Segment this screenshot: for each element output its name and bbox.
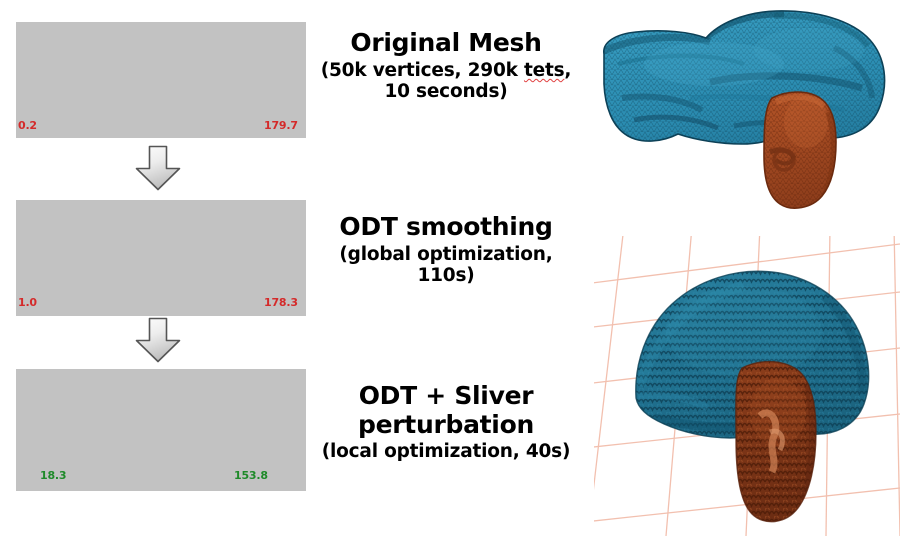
arrow-odt-to-sliver [132,316,184,364]
caption-title-original: Original Mesh [312,28,580,57]
caption-odt-smoothing: ODT smoothing (global optimization, 110s… [312,212,580,287]
caption-line3-sliver: (local optimization, 40s) [300,441,592,462]
liver-surface-original [594,2,900,234]
caption-odt-sliver: ODT + Sliver perturbation (local optimiz… [300,381,592,462]
caption-line3-original: 10 seconds) [312,81,580,102]
arrow-original-to-odt [132,144,184,192]
histogram-panel-original [16,22,306,138]
caption-line3-odt: 110s) [312,265,580,286]
caption-line2-part-c: , [564,60,571,81]
caption-title-odt: ODT smoothing [312,212,580,241]
histogram-axis-max-label-odt: 178.3 [264,296,298,309]
caption-title-sliver-line1: ODT + Sliver [300,381,592,410]
histogram-axis-min-label-odt-sliver: 18.3 [40,469,66,482]
histogram-axis-max-label-odt-sliver: 153.8 [234,469,268,482]
caption-original-mesh: Original Mesh (50k vertices, 290k tets, … [312,28,580,103]
histogram-axis-min-label-odt: 1.0 [18,296,37,309]
caption-line2-original: (50k vertices, 290k tets, [312,60,580,81]
caption-line2-odt: (global optimization, [312,244,580,265]
histogram-plot-odt [16,200,306,316]
histogram-axis-max-label-original: 179.7 [264,119,298,132]
histogram-axis-min-label-original: 0.2 [18,119,37,132]
slide-canvas: 0.2 179.7 1.0 178.3 [0,0,900,538]
histogram-panel-odt [16,200,306,316]
histogram-plot-original [16,22,306,138]
caption-line2-part-a: (50k vertices, 290k [321,60,524,81]
mesh-render-original [594,2,900,234]
mesh-render-optimized [594,236,900,536]
caption-title-sliver-line2: perturbation [300,410,592,439]
caption-misspelled-word-tets: tets [524,60,564,81]
